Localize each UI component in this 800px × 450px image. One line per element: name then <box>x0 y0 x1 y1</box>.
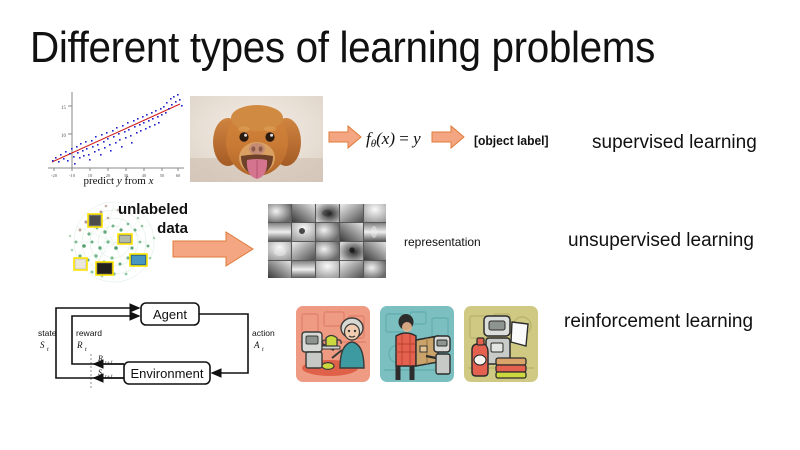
rl-loop-diagram: Agent Environment state S t reward R t a… <box>36 294 286 394</box>
svg-text:action: action <box>252 328 275 338</box>
svg-text:S: S <box>40 340 45 350</box>
page-title: Different types of learning problems <box>30 22 729 74</box>
svg-text:Environment: Environment <box>131 366 204 381</box>
svg-text:t: t <box>47 347 49 353</box>
representation-label: representation <box>404 235 481 249</box>
arrow-right-icon-1 <box>328 124 362 150</box>
scatter-plot: 15 10 -20-10 1020 3040 5060 <box>46 88 186 188</box>
row-label-unsupervised: unsupervised learning <box>568 230 754 252</box>
svg-text:10: 10 <box>61 134 67 139</box>
formula-y: y <box>413 129 421 148</box>
robot-illustration-panels <box>296 306 542 384</box>
row-label-reinforcement: reinforcement learning <box>564 311 753 333</box>
svg-text:R: R <box>97 354 103 363</box>
svg-text:15: 15 <box>61 106 67 111</box>
svg-text:state: state <box>38 328 57 338</box>
panel-tea-service <box>296 306 370 382</box>
unlabeled-line-1: unlabeled <box>98 200 188 219</box>
model-formula: fθ(x) = y <box>366 129 421 150</box>
svg-text:A: A <box>253 340 260 350</box>
arrow-right-icon-2 <box>431 124 465 150</box>
svg-text:S: S <box>98 368 102 377</box>
representation-grid <box>268 204 386 278</box>
caption-prefix: predict <box>84 175 117 187</box>
svg-text:t: t <box>85 347 87 353</box>
arrow-right-icon-3 <box>172 230 254 268</box>
caption-mid: from <box>122 175 149 187</box>
svg-text:t+1: t+1 <box>105 374 113 380</box>
svg-text:reward: reward <box>76 328 102 338</box>
scatter-caption: predict y from x <box>46 175 191 187</box>
row-label-supervised: supervised learning <box>592 132 757 154</box>
dog-photo <box>190 96 323 182</box>
caption-x: x <box>149 175 154 187</box>
svg-text:t+1: t+1 <box>105 360 113 366</box>
formula-eq: = <box>395 129 413 148</box>
object-label-output: [object label] <box>474 133 549 148</box>
panel-laundry-fold <box>464 306 538 382</box>
svg-text:t: t <box>262 347 264 353</box>
panel-box-carry <box>380 306 454 382</box>
svg-text:R: R <box>76 340 83 350</box>
svg-text:Agent: Agent <box>153 307 187 322</box>
formula-args: (x) <box>376 129 395 148</box>
